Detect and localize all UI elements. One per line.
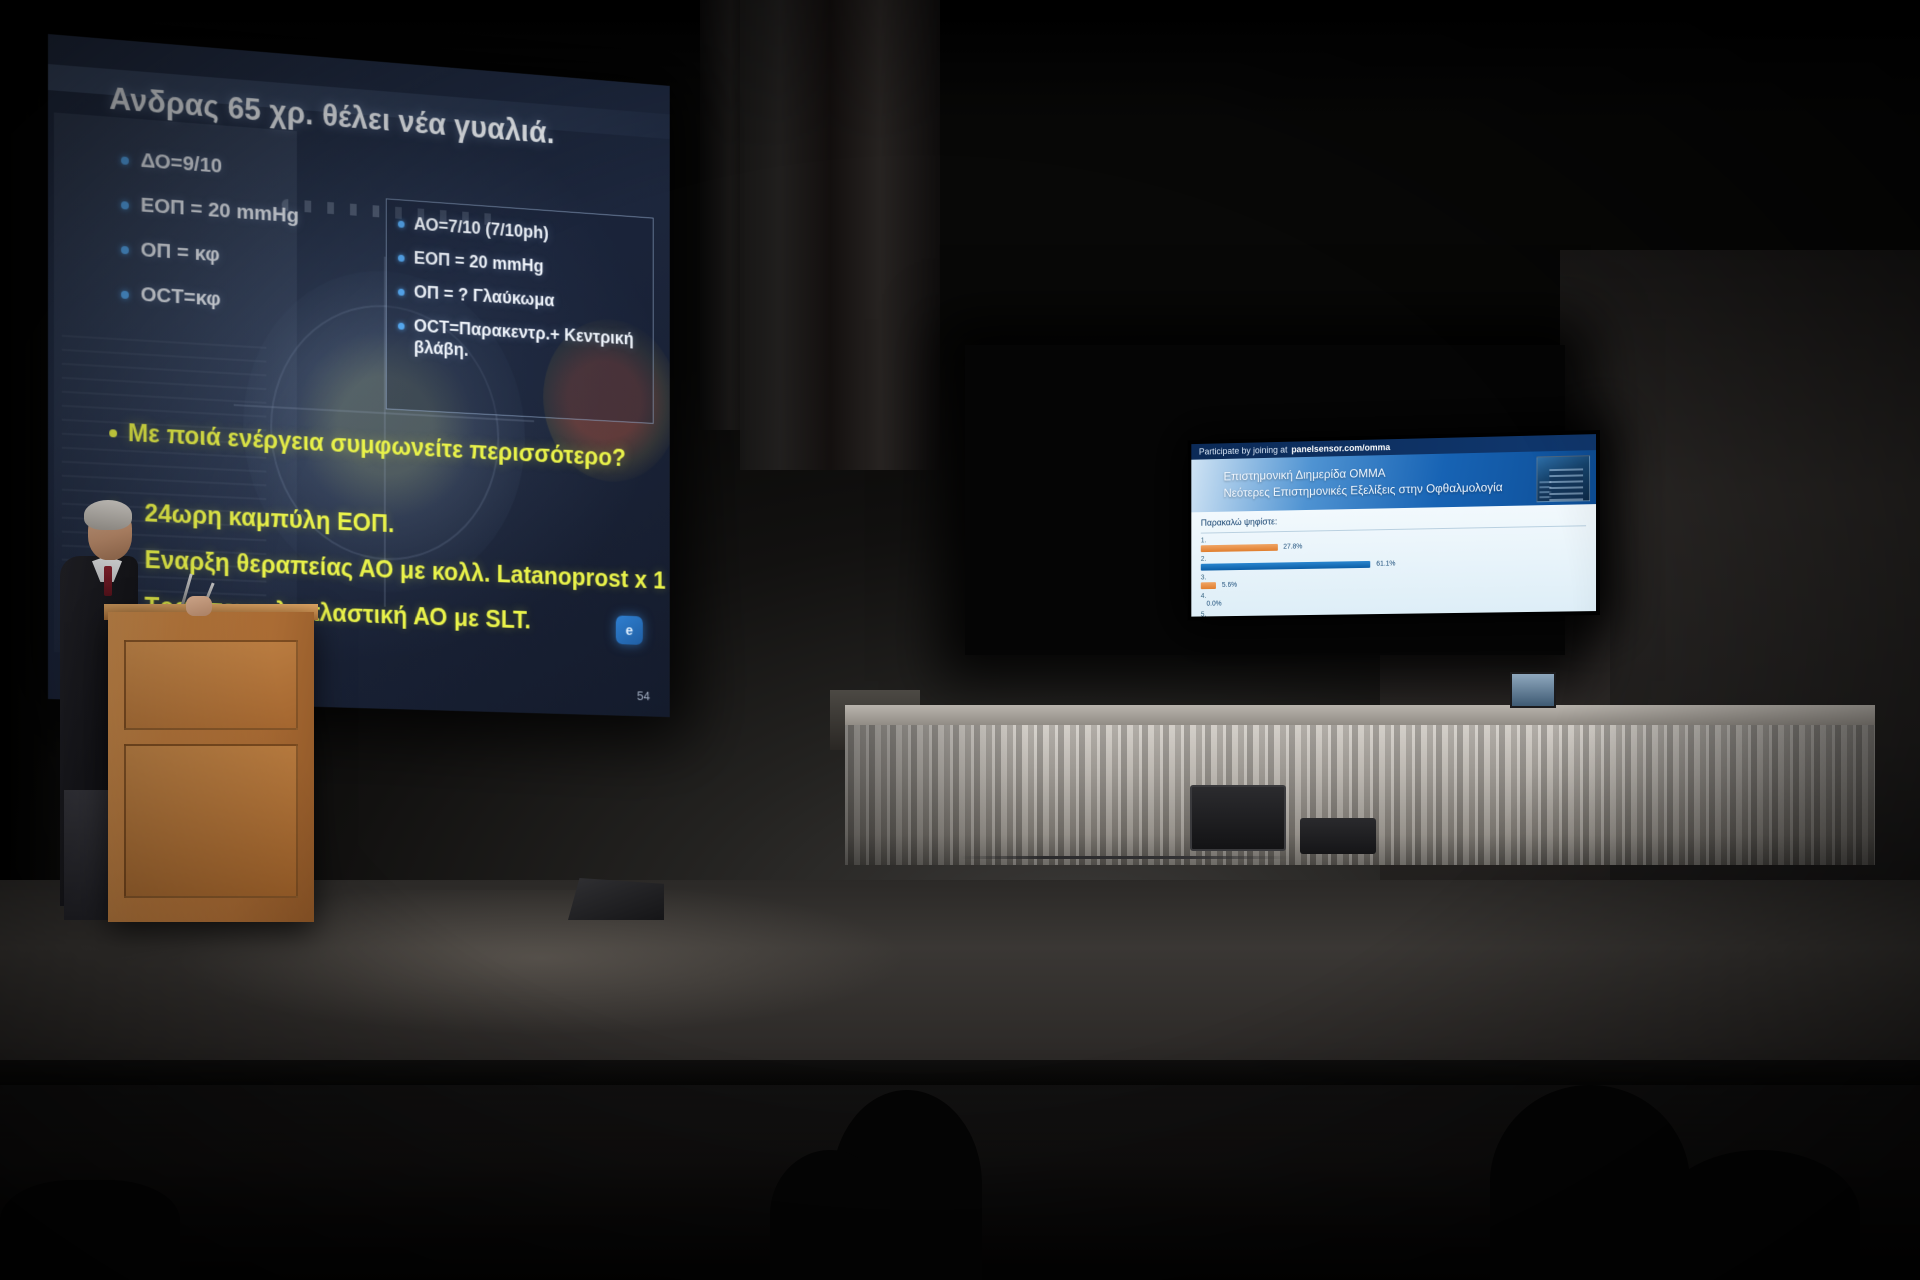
bullet-dot-icon: [121, 156, 129, 165]
participate-url[interactable]: panelsensor.com/omma: [1291, 442, 1390, 454]
poll-bar-value: 0.0%: [1206, 601, 1221, 608]
inset-bullet-label: OCT=Παρακεντρ.+ Κεντρική βλάβη.: [414, 316, 644, 372]
podium-upper-panel: [124, 640, 298, 730]
list-item: 2. Εναρξη θεραπείας ΑΟ με κολλ. Latanopr…: [107, 543, 669, 596]
poll-option-row: 3. 5.6%: [1201, 568, 1586, 589]
audience-silhouette: [0, 1180, 180, 1280]
bullet-dot-icon: [398, 255, 405, 262]
venue-building-photo: [1536, 455, 1590, 502]
poll-prompt: Παρακαλώ ψηφίστε:: [1201, 510, 1586, 527]
audience-silhouette: [770, 1150, 890, 1280]
building-facade: [1549, 468, 1583, 501]
poll-monitor: Participate by joining at panelsensor.co…: [1188, 430, 1600, 621]
bullet-label: ΔΟ=9/10: [141, 149, 223, 179]
side-monitor: [1510, 672, 1556, 708]
table-surface: [845, 705, 1875, 727]
poll-option-row: 1. 27.8%: [1201, 530, 1586, 552]
inset-bullet-label: ΟΠ = ? Γλαύκωμα: [414, 282, 555, 312]
poll-option-number: 5.: [1201, 606, 1586, 616]
list-item: ΕΟΠ = 20 mmHg: [121, 192, 408, 236]
poll-results-body: Παρακαλώ ψηφίστε: 1. 27.8% 2. 61.1%: [1191, 504, 1596, 617]
conference-photo: Ανδρας 65 χρ. θέλει νέα γυαλιά. ΔΟ=9/10 …: [0, 0, 1920, 1280]
audience-silhouette: [1660, 1150, 1860, 1280]
slide-logo-icon: e: [616, 615, 643, 645]
bullet-label: OCT=κφ: [141, 283, 221, 312]
bullet-dot-icon: [398, 221, 405, 228]
poll-bar-value: 27.8%: [1283, 543, 1302, 550]
poll-header-text: Επιστημονική Διημερίδα ΟΜΜΑ Νεότερες Επι…: [1224, 462, 1503, 502]
speaker-hair: [84, 500, 132, 530]
list-item: ΕΟΠ = 20 mmHg: [398, 247, 644, 285]
list-item: ΟΠ = ? Γλαύκωμα: [398, 281, 644, 318]
list-item: OCT=κφ: [121, 282, 408, 324]
bullet-label: ΕΟΠ = 20 mmHg: [141, 194, 299, 229]
stage-wedge-speaker: [568, 878, 664, 920]
inset-bullet-label: ΕΟΠ = 20 mmHg: [414, 248, 544, 278]
slide-left-bullets: ΔΟ=9/10 ΕΟΠ = 20 mmHg ΟΠ = κφ OCT=κφ: [121, 147, 408, 343]
bullet-dot-icon: [121, 246, 129, 254]
poll-option-row: 2. 61.1%: [1201, 549, 1586, 570]
list-item: ΟΠ = κφ: [121, 237, 408, 280]
speaker-tie: [104, 566, 112, 596]
poll-bar-value: 5.6%: [1222, 582, 1237, 589]
speaker-hand: [186, 596, 212, 616]
list-item: ΑΟ=7/10 (7/10ph): [398, 213, 644, 251]
inset-bullet-label: ΑΟ=7/10 (7/10ph): [414, 214, 549, 245]
poll-option-row: 5. 5.6%: [1201, 606, 1586, 616]
list-item: OCT=Παρακεντρ.+ Κεντρική βλάβη.: [398, 315, 644, 372]
podium-lower-panel: [124, 744, 298, 898]
participate-label: Participate by joining at: [1199, 445, 1288, 457]
poll-option-row: 4. 0.0%: [1201, 587, 1586, 607]
poll-header: Επιστημονική Διημερίδα ΟΜΜΑ Νεότερες Επι…: [1191, 450, 1596, 512]
option-label: Εναρξη θεραπείας ΑΟ με κολλ. Latanoprost…: [145, 545, 670, 596]
floor-monitor-secondary: [1300, 818, 1376, 854]
slide-inset-box: ΑΟ=7/10 (7/10ph) ΕΟΠ = 20 mmHg ΟΠ = ? Γλ…: [386, 198, 654, 424]
slide-number: 54: [637, 689, 650, 704]
bullet-dot-icon: [109, 429, 117, 437]
stage-curtain: [740, 0, 940, 470]
poll-bar-value: 61.1%: [1376, 561, 1395, 568]
poll-screen: Participate by joining at panelsensor.co…: [1191, 434, 1596, 617]
stage-cable: [960, 856, 1290, 859]
bullet-dot-icon: [121, 291, 129, 299]
bullet-dot-icon: [398, 289, 405, 296]
poll-bar: [1201, 582, 1216, 589]
bullet-dot-icon: [398, 322, 405, 329]
bullet-label: ΟΠ = κφ: [141, 238, 220, 267]
bullet-dot-icon: [121, 201, 129, 209]
floor-monitor: [1190, 785, 1286, 851]
poll-bar: [1201, 544, 1278, 552]
